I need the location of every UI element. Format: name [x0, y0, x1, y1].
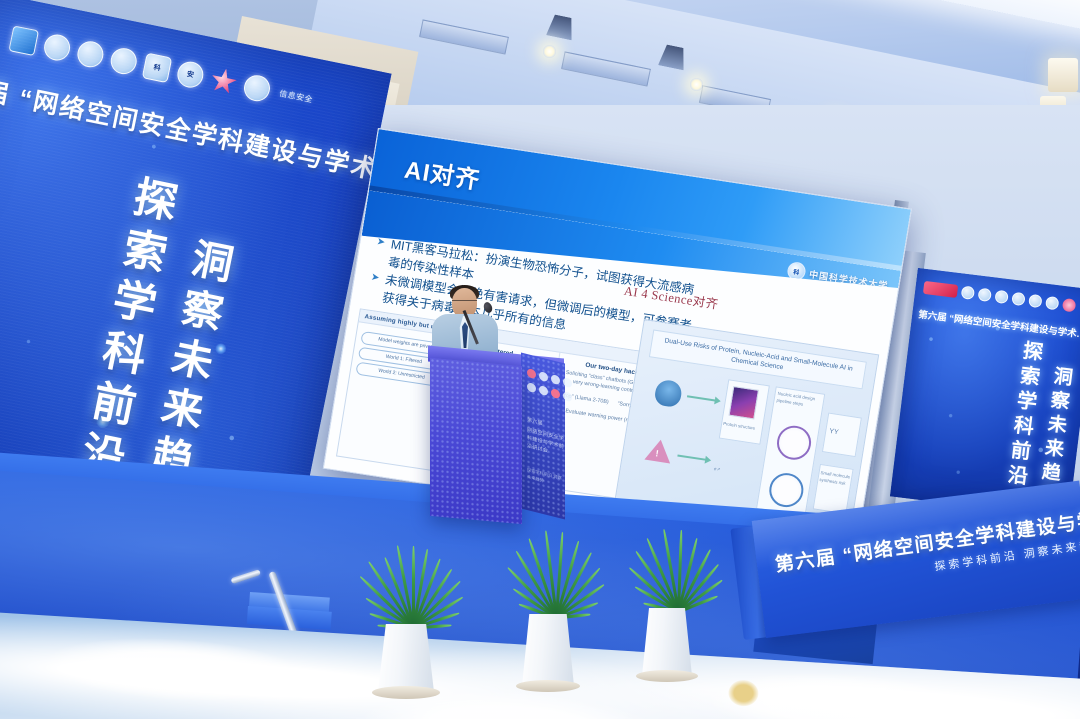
lectern-logo-icon: [527, 382, 536, 393]
potted-plant-right-foliage: [622, 536, 732, 612]
logo-emblem-3-icon: [108, 46, 139, 77]
logo-emblem-5-icon: 安: [175, 59, 206, 90]
logo-star-icon: [208, 66, 239, 97]
lectern-logo-icon: [563, 391, 572, 402]
wall-sconce-icon: [1048, 58, 1078, 92]
logo-emblem-icon: [977, 288, 991, 302]
right-led-backdrop: 第六届 “网络空间安全学科建设与学术… 探索学科前沿 洞察未来趋势: [890, 268, 1080, 518]
logo-emblem-icon: [994, 290, 1008, 304]
slide-title: AI对齐: [402, 150, 483, 196]
lectern-logo-icon: [551, 374, 560, 385]
potted-plant-right-pot: [642, 608, 692, 676]
logo-emblem-icon: [1045, 296, 1059, 310]
carpet-pattern: [45, 632, 308, 708]
potted-plant-left-pot: [378, 624, 434, 692]
figure-caption: σ↗: [713, 467, 720, 474]
logo-emblem-icon: [1011, 292, 1025, 306]
logo-shield-icon: [242, 73, 273, 104]
potted-plant-left-foliage: [352, 548, 472, 628]
plant-saucer: [636, 670, 698, 682]
bullet-arrow-icon: ➤: [375, 234, 386, 251]
flow-arrow-icon: [687, 396, 717, 402]
potted-plant-center-foliage: [500, 540, 610, 618]
lectern-logo-icon: [527, 368, 536, 379]
lectern-front-panel: [430, 358, 522, 524]
logo-emblem-icon: [1028, 294, 1042, 308]
logo-emblem-4-icon: 科: [142, 53, 173, 84]
lectern-side-panel: 第六届 网络空间安全学科建设与学术前沿研讨会 探索学科前沿 洞察未来趋势: [521, 353, 565, 520]
logo-emblem-icon: [961, 286, 975, 300]
lectern-logo-icon: [539, 385, 548, 396]
logo-flag-icon: [8, 25, 39, 56]
presenter-glasses-icon: [452, 300, 477, 305]
bullet-arrow-icon: ➤: [370, 270, 381, 287]
conference-hall-photo: 第六届 “网络空间安全学科建设与学术… 探索学科前沿 洞察未来趋势 科 安 信息…: [0, 0, 1080, 719]
user-avatar-icon: [653, 379, 683, 409]
potted-plant-center-pot: [522, 614, 574, 686]
institution-name: 中国科学技术大学: [808, 267, 889, 292]
protein-chip-icon: [728, 386, 759, 420]
downlight-icon: [690, 78, 703, 91]
formula-glyph: ΥΥ: [828, 427, 839, 438]
lectern-texture: [430, 358, 522, 524]
left-led-logo-wordmark: 信息安全: [278, 87, 314, 105]
lectern-logo-icon: [551, 388, 560, 399]
plant-saucer: [516, 680, 580, 692]
institution-logo: 科 中国科学技术大学: [786, 261, 890, 294]
lectern-logo-icon: [563, 377, 572, 388]
logo-emblem-2-icon: [75, 39, 106, 70]
hazard-warning-icon: !: [644, 438, 673, 464]
ustc-seal-icon: 科: [786, 261, 807, 281]
logo-star-icon: [1062, 298, 1076, 312]
downlight-icon: [543, 45, 556, 58]
flow-arrow-icon: [677, 455, 707, 461]
lectern-logo-icon: [539, 371, 548, 382]
logo-emblem-1-icon: [42, 32, 73, 63]
plant-saucer: [372, 686, 440, 699]
